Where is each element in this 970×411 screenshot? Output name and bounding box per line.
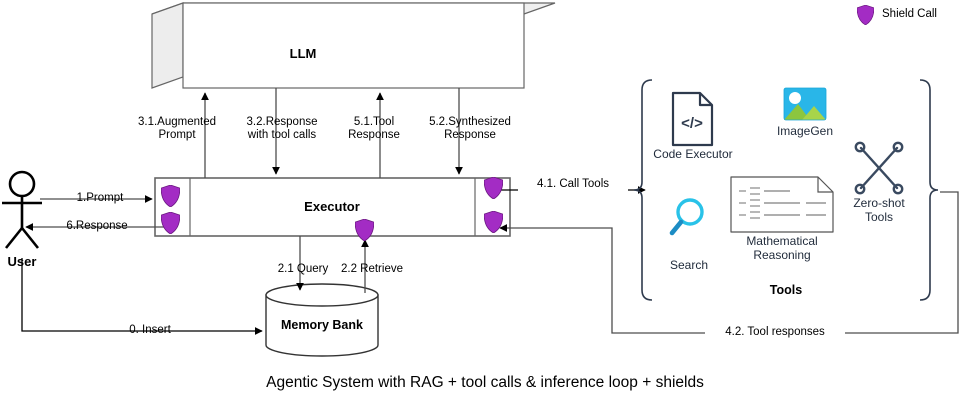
executor-label: Executor	[272, 200, 392, 213]
legend-shield-label: Shield Call	[882, 8, 937, 20]
svg-text:</>: </>	[681, 115, 703, 132]
edge-0-insert	[22, 258, 262, 331]
crossed-wrenches-icon	[856, 143, 902, 193]
llm-side-face	[152, 3, 183, 88]
edge-label-32-response-tool-calls: 3.2.Response with tool calls	[226, 116, 338, 142]
user-node[interactable]	[2, 172, 42, 248]
cylinder-top	[266, 284, 378, 306]
edge-label-31-augmented-prompt: 3.1.Augmented Prompt	[127, 116, 227, 142]
shield-icon-executor-bottom-center[interactable]	[355, 219, 374, 241]
edge-label-22-retrieve: 2.2 Retrieve	[322, 263, 422, 276]
tools-right-bracket	[920, 80, 938, 300]
edge-label-42-tool-responses: 4.2. Tool responses	[705, 326, 845, 339]
edge-label-1-prompt: 1.Prompt	[55, 192, 145, 205]
user-head	[10, 172, 34, 196]
edge-label-0-insert: 0. Insert	[105, 324, 195, 337]
user-leg-right	[22, 228, 38, 248]
diagram-canvas: </>	[0, 0, 970, 411]
tool-label-code-executor: Code Executor	[638, 147, 748, 161]
formula-document-icon	[731, 177, 833, 232]
diagram-caption: Agentic System with RAG + tool calls & i…	[0, 374, 970, 392]
edge-label-41-call-tools: 4.1. Call Tools	[518, 178, 628, 191]
edge-label-6-response: 6.Response	[47, 220, 147, 233]
llm-label: LLM	[253, 47, 353, 60]
image-icon	[784, 88, 826, 120]
edge-label-51-tool-response: 5.1.Tool Response	[334, 116, 414, 142]
tools-group-label: Tools	[736, 283, 836, 297]
user-leg-left	[6, 228, 22, 248]
code-document-icon: </>	[673, 93, 712, 145]
tool-label-mathematical-reasoning: Mathematical Reasoning	[717, 234, 847, 262]
llm-node[interactable]	[152, 3, 555, 88]
magnifier-icon	[672, 200, 702, 233]
edge-label-52-synthesized-response: 5.2.Synthesized Response	[415, 116, 525, 142]
user-label: User	[0, 255, 62, 268]
llm-front-face	[183, 3, 524, 88]
shield-icon-legend	[857, 5, 874, 25]
memory-bank-label: Memory Bank	[262, 319, 382, 332]
tool-label-zero-shot-tools: Zero-shot Tools	[834, 196, 924, 224]
tool-label-imagegen: ImageGen	[750, 124, 860, 138]
